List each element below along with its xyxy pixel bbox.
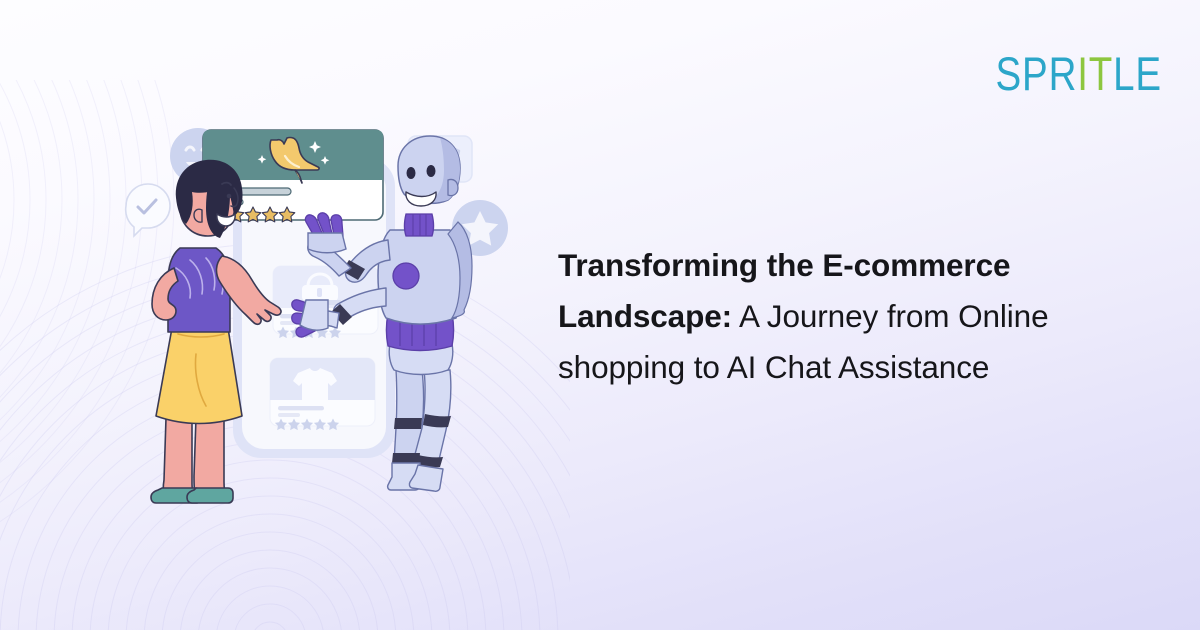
product-card-tshirt[interactable] [270, 358, 375, 430]
spritle-logo[interactable]: SPR IT LE [996, 50, 1162, 97]
logo-text-part-2: IT [1077, 50, 1113, 97]
logo-text-part-1: SPR [996, 50, 1078, 97]
social-card-canvas: SPR IT LE Transforming the E-commerce La… [0, 0, 1200, 630]
checkmark-speech-bubble-icon [126, 184, 170, 236]
page-title: Transforming the E-commerce Landscape: A… [558, 240, 1158, 393]
logo-text-part-3: LE [1113, 50, 1162, 97]
hero-illustration [118, 118, 518, 518]
robot-hand-upper [305, 213, 346, 253]
